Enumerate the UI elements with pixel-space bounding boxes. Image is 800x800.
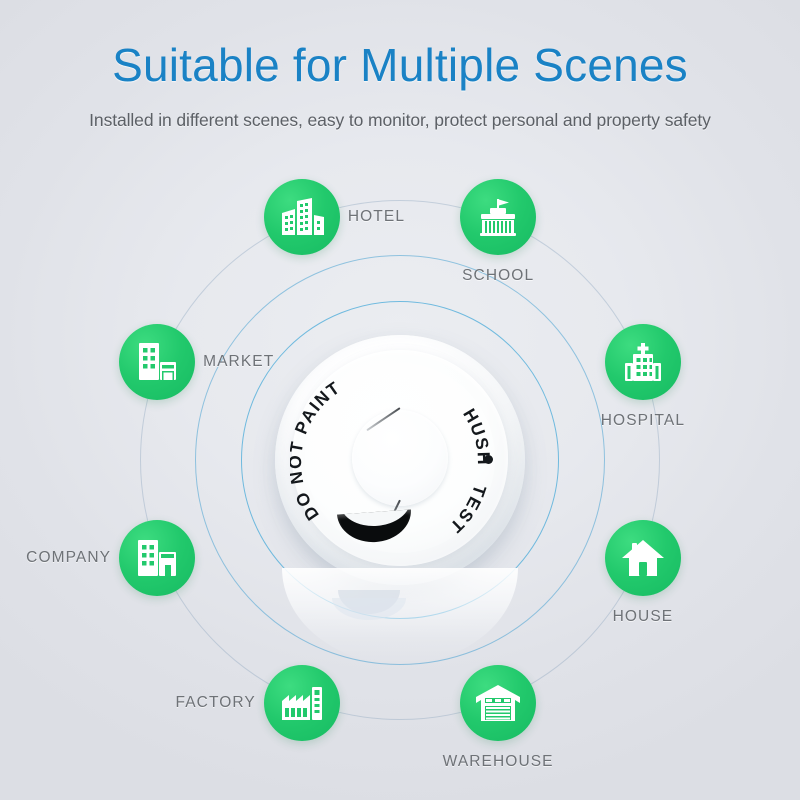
scene-label-warehouse: WAREHOUSE <box>443 753 554 771</box>
test-hush-separator-dot <box>484 455 493 464</box>
page-header: Suitable for Multiple Scenes Installed i… <box>0 0 800 131</box>
page-subtitle: Installed in different scenes, easy to m… <box>0 110 800 131</box>
scene-label-market: MARKET <box>203 353 274 371</box>
house-icon <box>621 538 665 578</box>
scene-bubble-warehouse[interactable] <box>460 665 536 741</box>
detector-center-hub[interactable] <box>352 410 448 506</box>
scene-label-school: SCHOOL <box>462 267 534 285</box>
factory-icon <box>279 685 325 721</box>
hotel-towers-icon <box>279 197 325 237</box>
scene-bubble-hospital[interactable] <box>605 324 681 400</box>
scene-label-house: HOUSE <box>613 608 674 626</box>
scene-label-company: COMPANY <box>26 549 111 567</box>
office-building-icon <box>135 538 179 578</box>
scene-bubble-factory[interactable] <box>264 665 340 741</box>
page-title: Suitable for Multiple Scenes <box>0 42 800 88</box>
scene-bubble-house[interactable] <box>605 520 681 596</box>
scene-bubble-market[interactable] <box>119 324 195 400</box>
hospital-cross-icon <box>621 342 665 382</box>
scene-label-hospital: HOSPITAL <box>601 412 685 430</box>
scene-bubble-school[interactable] <box>460 179 536 255</box>
school-flag-icon <box>476 197 520 237</box>
scene-bubble-company[interactable] <box>119 520 195 596</box>
scene-label-hotel: HOTEL <box>348 208 405 226</box>
warehouse-garage-icon <box>475 684 521 722</box>
scene-bubble-hotel[interactable] <box>264 179 340 255</box>
market-storefront-icon <box>135 342 179 382</box>
scene-label-factory: FACTORY <box>176 694 256 712</box>
